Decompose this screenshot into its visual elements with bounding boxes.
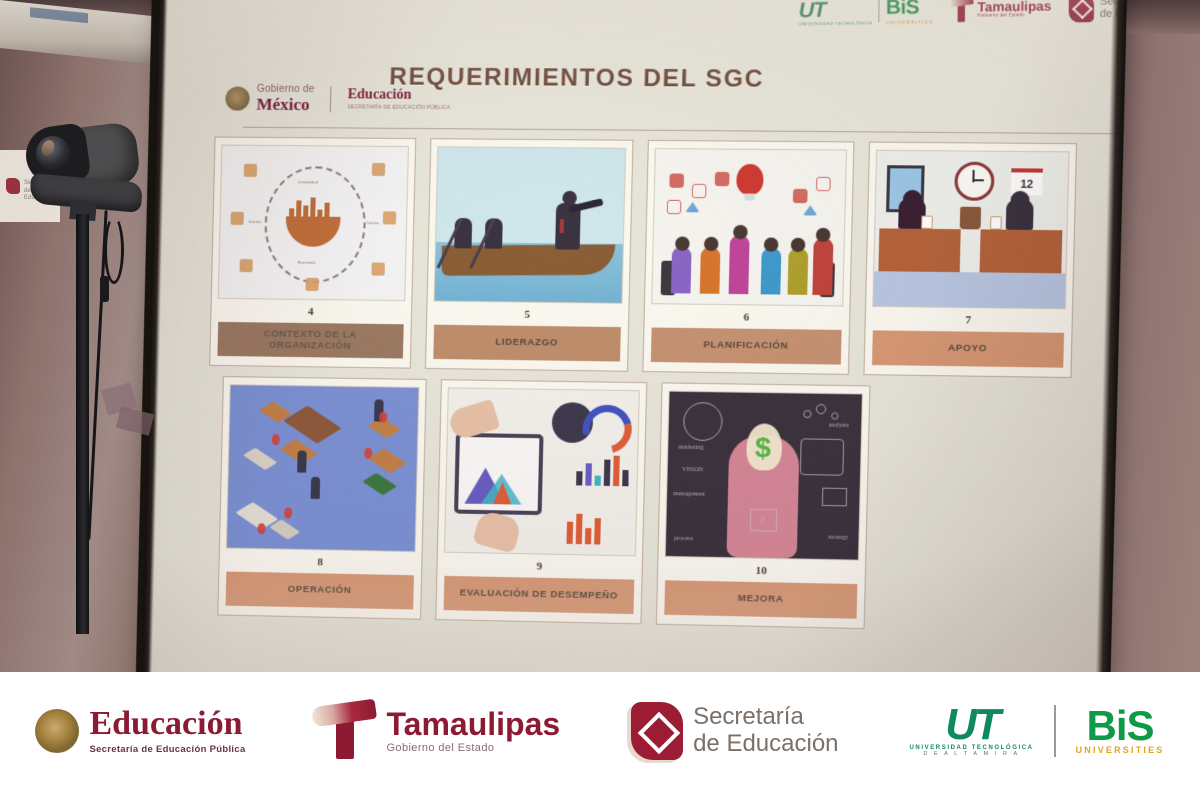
chalk-box [800,438,844,475]
slide-header: Gobierno de México Educación SECRETARÍA … [225,40,1111,133]
card-6-number: 6 [743,311,749,323]
cup-icon [921,216,933,229]
necktie-icon [560,219,564,233]
ut-sub-line2: D E A L T A M I R A [909,751,1033,757]
area-chart-shape [493,482,512,505]
card-10-illustration: marketing VISION management process anal… [665,391,863,561]
bar-chart-icon [576,455,629,486]
context-node-icon [371,262,384,275]
logo-divider-bar [1054,705,1056,757]
iso-person [297,450,307,472]
ut-bis-logo-header: UT UNIVERSIDAD TECNOLÓGICA BiS UNIVERSIT… [798,0,933,26]
person-head [763,237,778,251]
footer-tamaulipas-title: Tamaulipas [386,708,560,740]
brain-lightbulb-icon [736,164,764,195]
chalk-box [822,488,847,507]
footer-secretaria-line2: de Educación [693,731,838,758]
tamaulipas-logo-header: Tamaulipas Gobierno del Estado [950,0,1051,22]
cable-ferrite-bead [100,276,109,302]
requirement-card-8[interactable]: 8 OPERACIÓN [217,376,426,620]
idea-icon [715,172,730,186]
desk-icon [980,229,1063,273]
card-8-number: 8 [317,556,323,568]
ptz-conference-camera [8,118,158,258]
idea-icon [792,189,807,203]
gobierno-line1: Gobierno de [257,85,315,95]
idea-icon [669,174,684,188]
tamaulipas-t-icon [950,0,973,22]
requirement-card-6[interactable]: 6 PLANIFICACIÓN [642,140,854,375]
iso-person [311,477,321,499]
card-10-label: MEJORA [664,580,857,618]
context-node-icon [382,211,395,224]
chalk-word: strategy [828,535,848,541]
projection-screen-area: Gobierno de México Educación SECRETARÍA … [150,0,1100,672]
footer-tamaulipas-subtitle: Gobierno del Estado [386,742,560,754]
bis-sub: UNIVERSITIES [886,19,934,25]
footer-logo-bar: Educación Secretaría de Educación Públic… [0,672,1200,790]
person-figure [671,247,692,294]
footer-secretaria-line1: Secretaría [693,704,838,731]
card-row-1: Comunidad Interés Cultura Economía 4 CON… [209,136,1077,378]
person-figure [760,248,781,295]
card-7-number: 7 [965,314,971,326]
chalk-question-mark: ? [759,515,764,527]
boat-icon [441,244,615,275]
card-8-illustration [226,384,420,552]
requirement-card-7[interactable]: 12 [863,142,1077,378]
mexican-eagle-icon [35,709,79,753]
ut-sub: UNIVERSIDAD TECNOLÓGICA [798,20,872,26]
card-4-label: CONTEXTO DE LA ORGANIZACIÓN [217,322,403,359]
mexican-eagle-icon [225,86,250,110]
ceiling-label-sticker [30,7,88,23]
context-city-icon [289,196,338,219]
context-node-icon [244,164,257,177]
context-caption: Cultura [366,221,379,225]
context-node-icon [231,212,244,225]
tablet-icon [454,433,544,515]
logo-divider-bar [879,0,880,22]
bis-mark: BiS [886,0,934,20]
room-wall-left [0,0,150,672]
requirements-card-grid: Comunidad Interés Cultura Economía 4 CON… [203,136,1077,643]
slide-title: REQUERIMIENTOS DEL SGC [389,63,764,94]
chalk-word: analysis [829,423,849,429]
scissors-shield-icon [631,702,683,760]
bin-icon [960,207,981,230]
dollar-sign-icon: $ [755,432,772,465]
context-node-icon [371,163,384,176]
card-5-label: LIDERAZGO [433,325,621,362]
tamaulipas-t-icon [316,701,376,761]
footer-tamaulipas-logo: Tamaulipas Gobierno del Estado [316,701,560,761]
header-rule [243,127,1128,135]
photographed-room-scene: Secretaríade Educación Gobierno de Méxic… [0,0,1200,672]
chalk-word: management [673,491,705,498]
person-head [815,228,830,242]
card-8-label: OPERACIÓN [226,572,414,610]
bis-sub: UNIVERSITIES [1076,745,1165,755]
camera-support-pole [76,214,89,634]
chalk-word: VISION [682,467,703,473]
context-node-icon [239,259,252,272]
chalk-word: process [674,536,693,542]
chalk-word: marketing [679,445,704,451]
footer-secretaria-educacion-logo: Secretaría de Educación [631,702,838,760]
idea-icon [802,205,817,215]
ut-mark: UT [909,705,1033,745]
gobierno-line2: México [256,96,314,113]
requirement-card-10[interactable]: marketing VISION management process anal… [656,382,871,629]
card-6-illustration [651,148,846,306]
ut-sub-line1: UNIVERSIDAD TECNOLÓGICA [909,745,1033,751]
idea-icon [815,177,830,191]
office-floor [873,271,1066,308]
slide-header-logos: UT UNIVERSIDAD TECNOLÓGICA BiS UNIVERSIT… [798,0,1127,26]
context-caption: Economía [298,261,316,265]
context-caption: Interés [249,220,262,224]
card-9-number: 9 [536,561,542,573]
bar-chart-icon [566,514,600,545]
slide-content: Gobierno de México Educación SECRETARÍA … [153,40,1109,661]
idea-icon [667,200,682,214]
footer-educacion-logo: Educación Secretaría de Educación Públic… [35,707,245,755]
cup-icon [990,216,1002,229]
card-6-label: PLANIFICACIÓN [651,327,841,364]
requirement-card-4[interactable]: Comunidad Interés Cultura Economía 4 CON… [209,136,416,368]
context-caption: Comunidad [298,180,318,184]
projection-screen: Gobierno de México Educación SECRETARÍA … [142,0,1128,672]
requirement-card-5[interactable]: 5 LIDERAZGO [424,138,633,372]
footer-educacion-title: Educación [89,707,245,741]
camera-cable-loop [104,216,124,284]
logo-divider [330,86,332,112]
person-figure [787,248,808,295]
card-5-number: 5 [524,309,530,321]
educacion-sublabel: SECRETARÍA DE EDUCACIÓN PÚBLICA [347,105,450,111]
card-7-illustration: 12 [872,150,1070,309]
footer-ut-bis-logo: UT UNIVERSIDAD TECNOLÓGICA D E A L T A M… [909,705,1164,757]
card-7-label: APOYO [871,330,1064,367]
person-head [790,238,805,252]
card-4-number: 4 [308,306,314,318]
card-9-illustration [444,387,640,556]
card-9-label: EVALUACIÓN DE DESEMPEÑO [444,576,635,614]
idea-icon [685,202,700,212]
card-4-illustration: Comunidad Interés Cultura Economía [218,145,409,302]
scissors-shield-icon [1068,0,1093,22]
person-figure [700,247,721,294]
desk-icon [878,228,960,272]
staff-head [902,190,921,209]
requirement-card-9[interactable]: 9 EVALUACIÓN DE DESEMPEÑO [435,379,647,624]
context-node-icon [305,278,318,291]
card-5-illustration [433,146,626,304]
card-10-number: 10 [755,565,767,577]
idea-icon [692,184,707,198]
person-figure [812,238,833,295]
card-row-2: 8 OPERACIÓN [217,376,1071,633]
person-figure [729,235,750,294]
footer-educacion-subtitle: Secretaría de Educación Pública [89,744,245,755]
bis-mark: BiS [1076,707,1165,745]
